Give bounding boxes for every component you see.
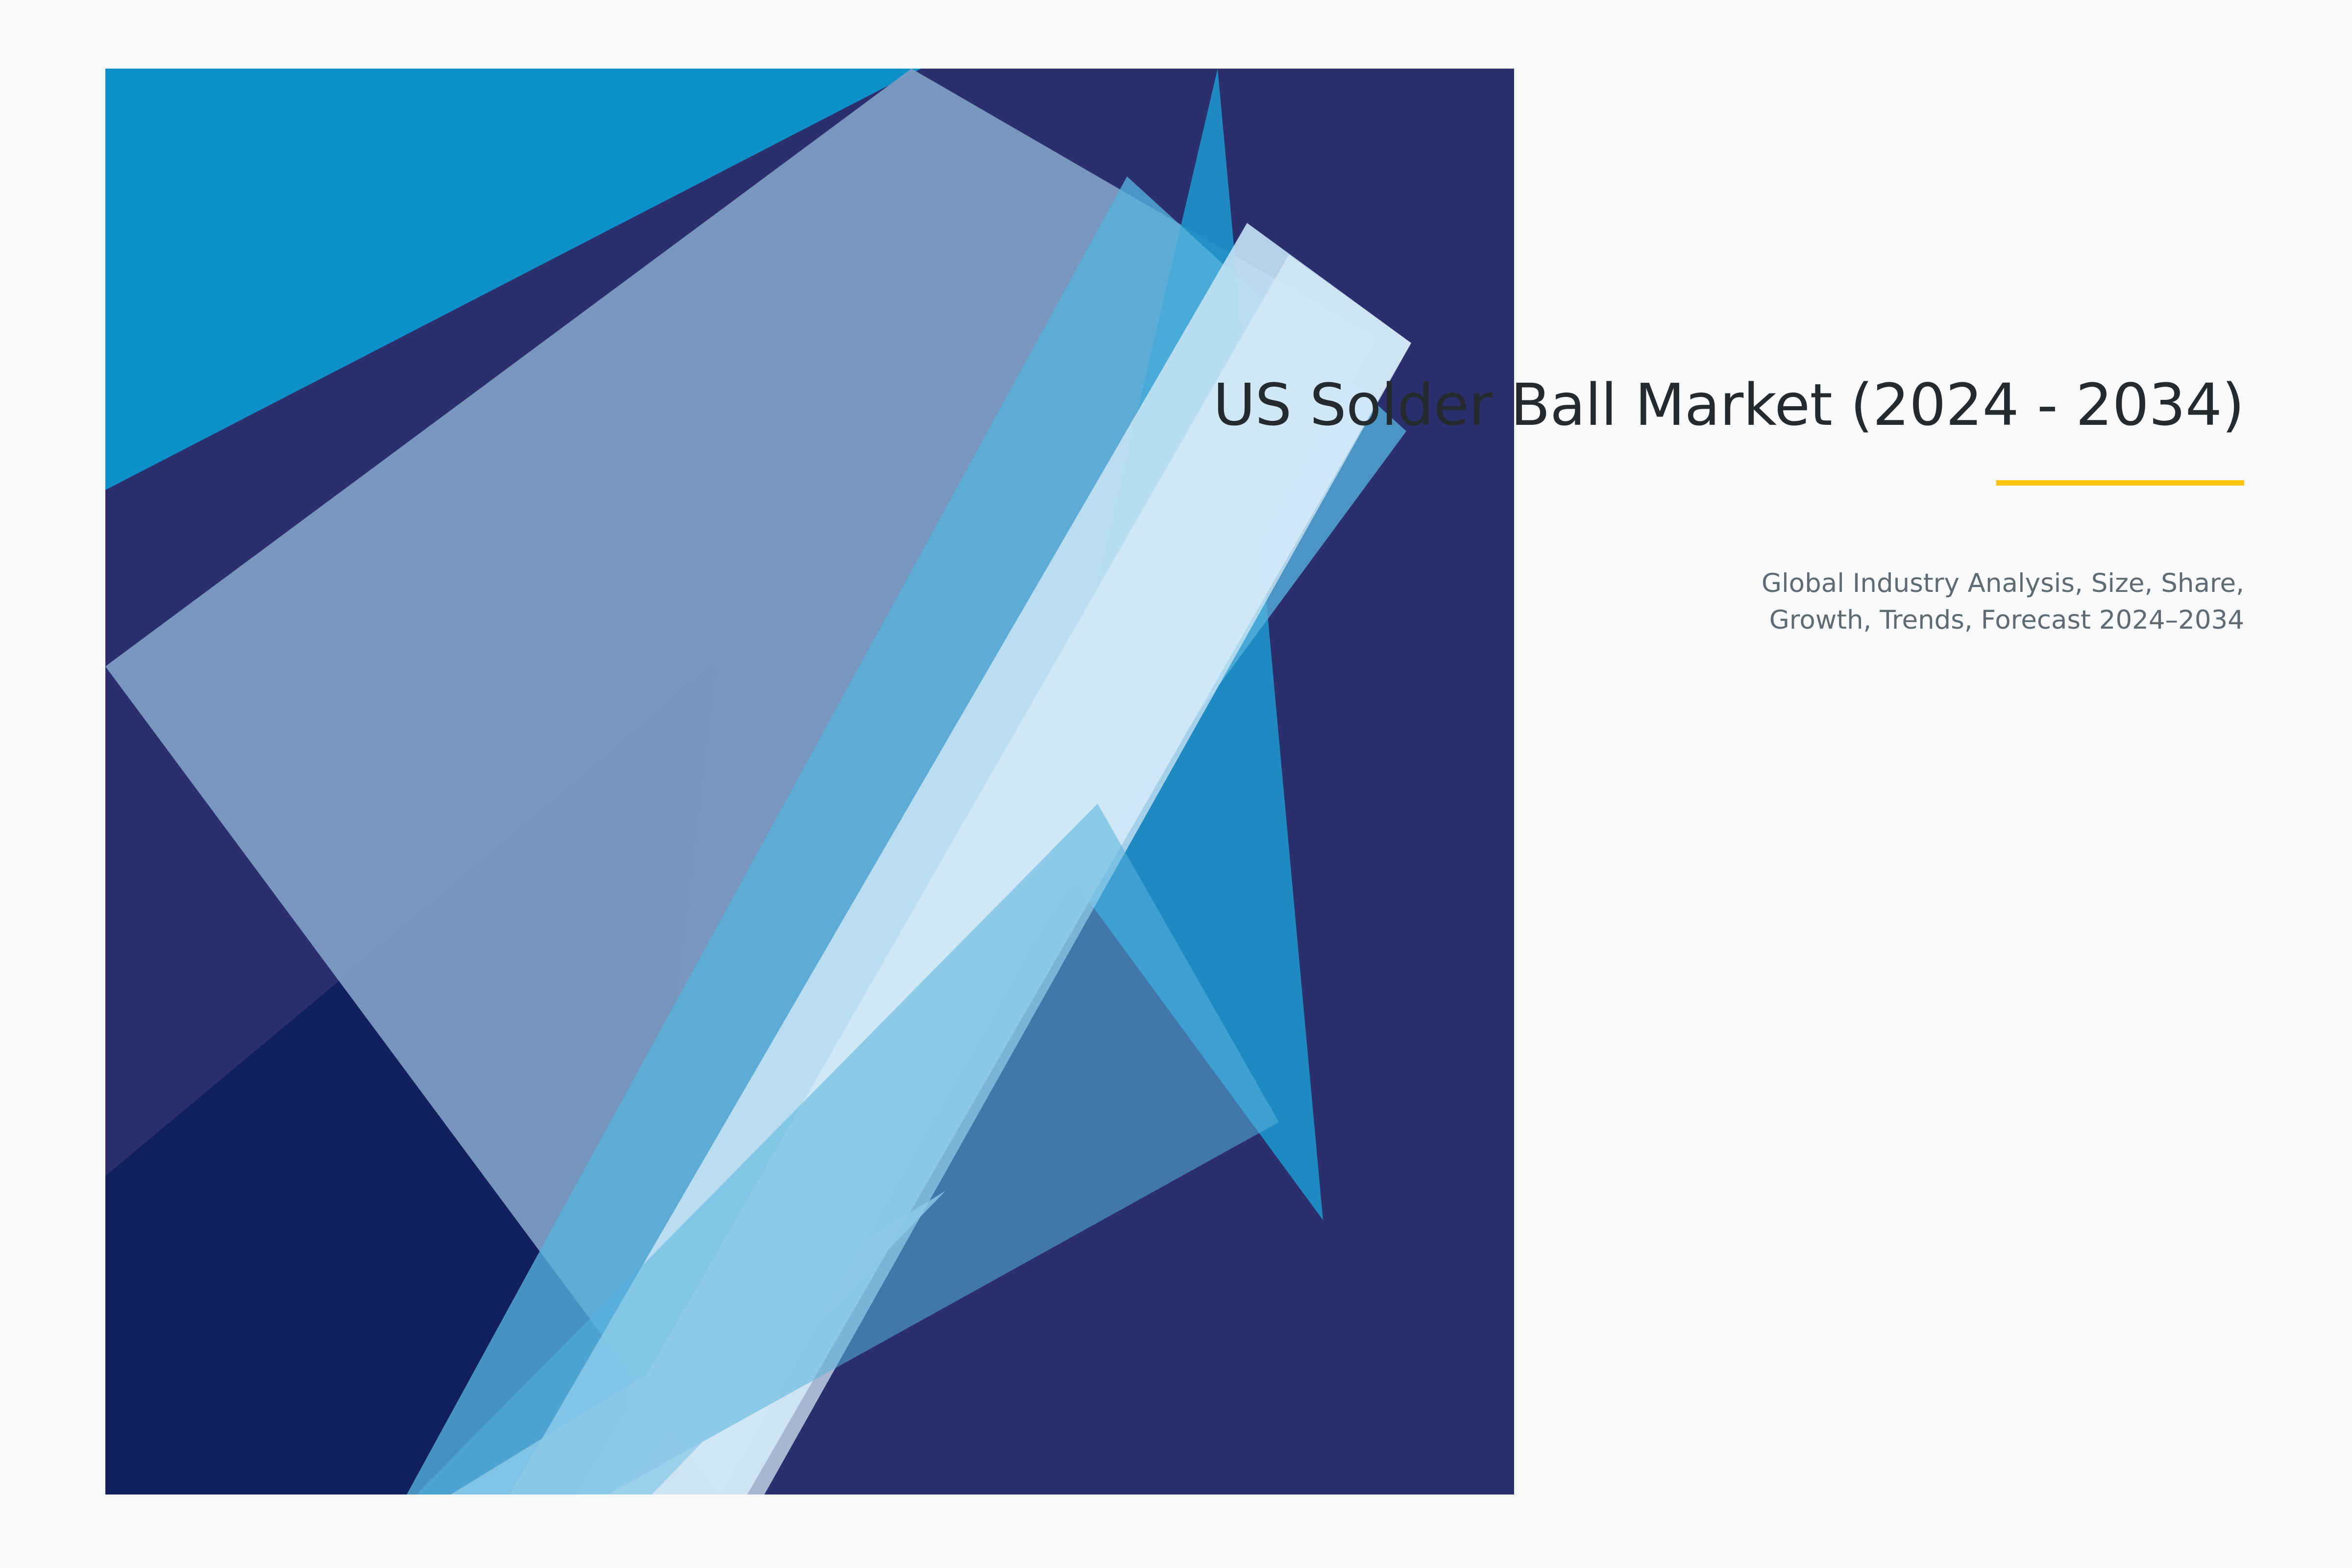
page-subtitle: Global Industry Analysis, Size, Share, G… [1681, 565, 2244, 639]
shape-slate-quad [105, 69, 1377, 1494]
shape-cyan-base [105, 69, 1514, 1494]
shape-cyan-spike [1039, 69, 1323, 1220]
shape-deep-navy-bottom [105, 666, 715, 1494]
page-subtitle-line-1: Global Industry Analysis, Size, Share, [1762, 568, 2244, 598]
shape-bottom-notch [451, 1191, 946, 1494]
page-subtitle-line-2: Growth, Trends, Forecast 2024–2034 [1769, 605, 2244, 635]
shape-navy-wedge [105, 69, 1514, 1494]
page-title: US Solder Ball Market (2024 - 2034) [735, 372, 2244, 437]
accent-rule-container [735, 480, 2244, 486]
accent-rule [1996, 480, 2244, 486]
shape-sky-sliver [416, 804, 1279, 1494]
cover-text-block: US Solder Ball Market (2024 - 2034) Glob… [735, 372, 2244, 639]
shape-deep-navy-lower [105, 664, 713, 1494]
report-cover: US Solder Ball Market (2024 - 2034) Glob… [0, 0, 2352, 1568]
abstract-geometric-artwork [0, 0, 2352, 1568]
